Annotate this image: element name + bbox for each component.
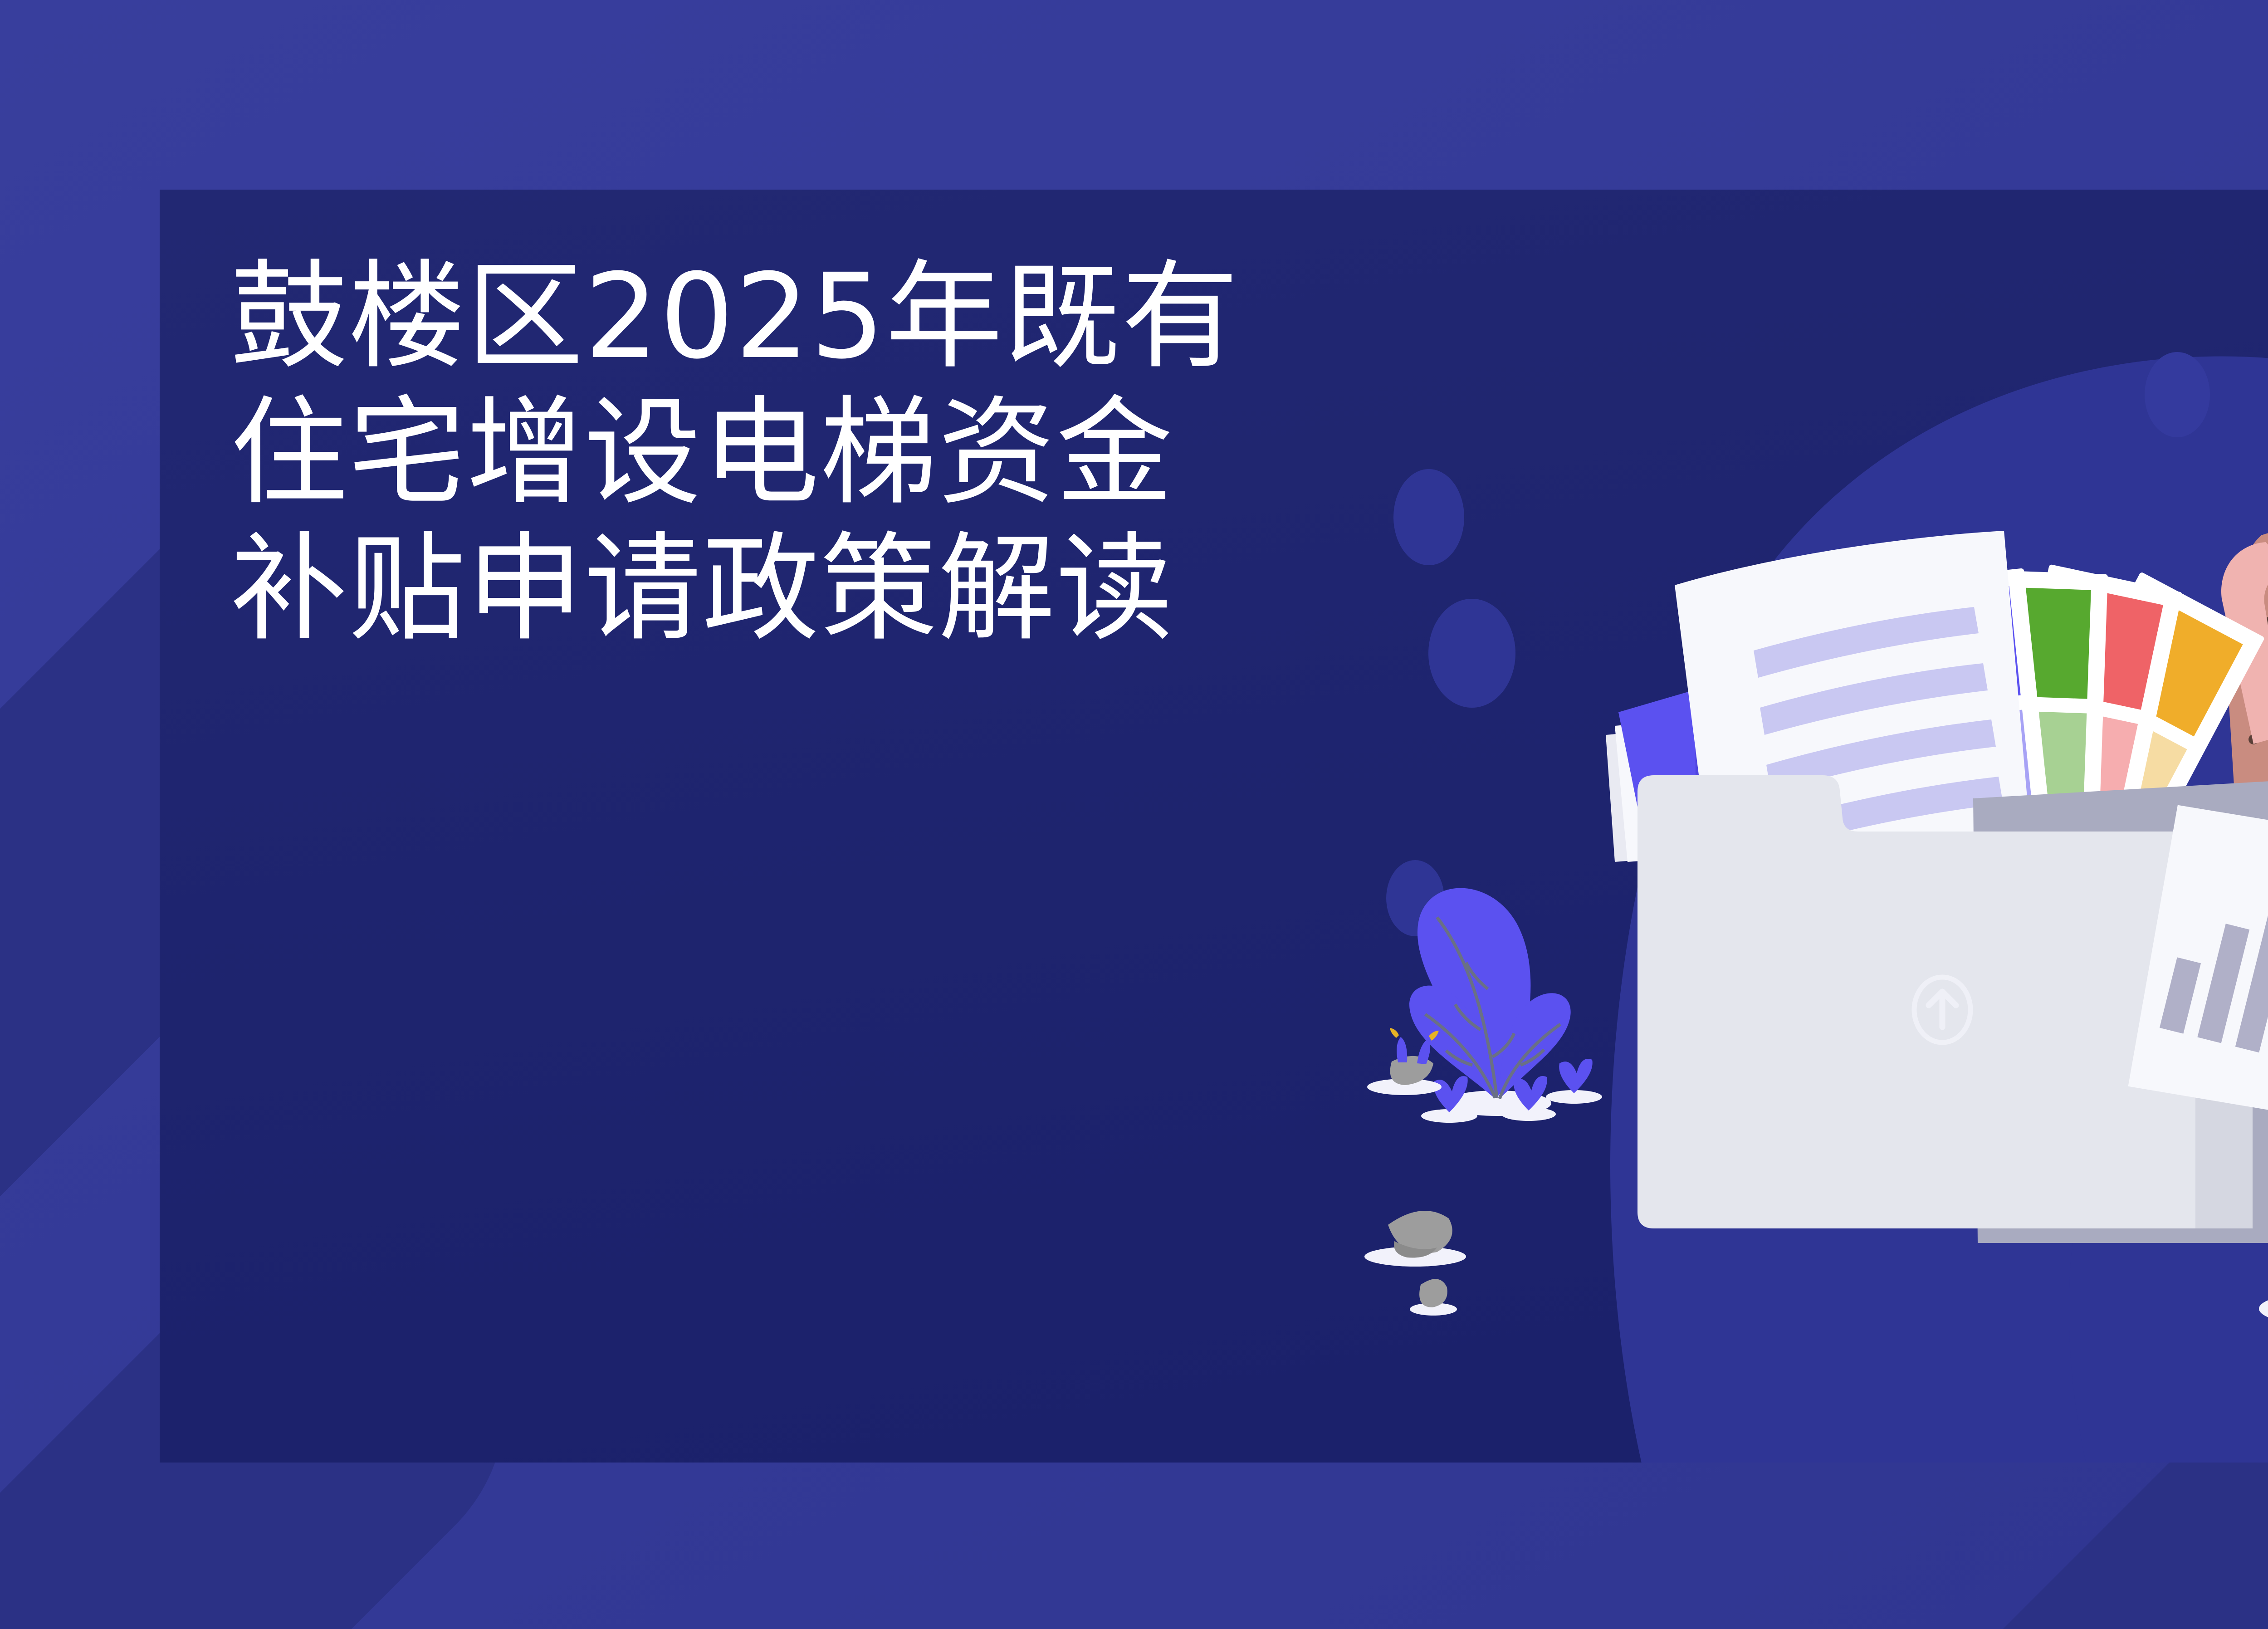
decor-dot [1393,469,1464,565]
illustration-layer [0,0,2268,1629]
shrub-small [1546,1059,1602,1104]
rock-with-sprouts [1367,1028,1442,1095]
rock-small [1410,1279,1457,1316]
slide-canvas: 鼓楼区2025年既有 住宅增设电梯资金 补贴申请政策解读 [0,0,2268,1629]
decor-dot [1428,599,1515,708]
decor-dot [2145,352,2210,437]
rock-large [1364,1211,1466,1267]
